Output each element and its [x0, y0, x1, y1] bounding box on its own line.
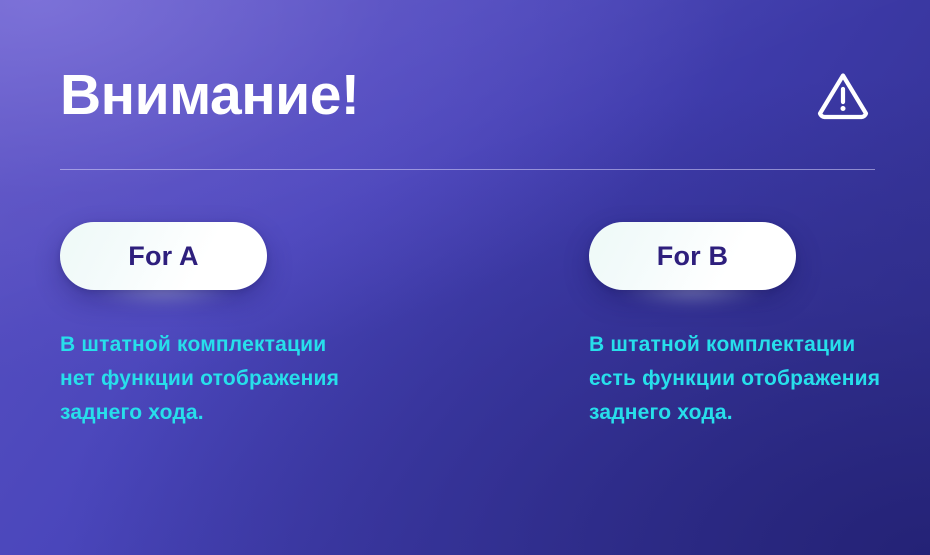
pill-wrap-a: For A — [60, 222, 267, 290]
column-a-description: В штатной комплектации нет функции отобр… — [60, 290, 361, 430]
header-divider — [60, 169, 875, 170]
column-b-description: В штатной комплектации есть функции отоб… — [589, 290, 890, 430]
slide-header: Внимание! — [60, 55, 875, 135]
column-for-b: For B В штатной комплектации есть функци… — [589, 222, 890, 430]
for-b-button-label: For B — [657, 243, 729, 270]
warning-triangle-icon — [815, 67, 871, 123]
for-a-button-label: For A — [128, 243, 199, 270]
for-a-button[interactable]: For A — [60, 222, 267, 290]
pill-wrap-b: For B — [589, 222, 796, 290]
comparison-columns: For A В штатной комплектации нет функции… — [60, 222, 890, 430]
column-for-a: For A В штатной комплектации нет функции… — [60, 222, 361, 430]
page-title: Внимание! — [60, 67, 359, 124]
attention-slide: Внимание! For A В штатной комплектации н… — [0, 0, 930, 555]
for-b-button[interactable]: For B — [589, 222, 796, 290]
